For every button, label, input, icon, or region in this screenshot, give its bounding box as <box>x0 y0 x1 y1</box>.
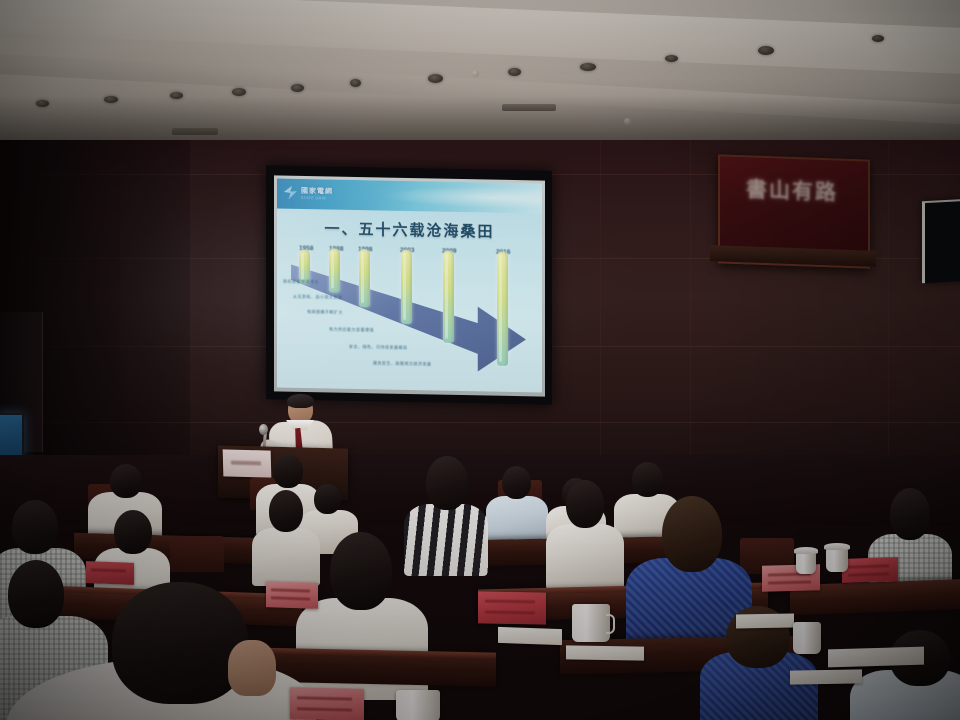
attendee <box>546 480 624 590</box>
slide-body-line: 服务民生、助推地方经济发展 <box>373 360 432 367</box>
document-sheet <box>498 627 562 645</box>
attendee-body <box>546 524 624 590</box>
downlight-icon <box>508 68 521 76</box>
attendee-head <box>426 456 468 510</box>
attendee-head <box>566 480 604 528</box>
attendee-head <box>502 466 531 499</box>
panel-grain <box>888 140 889 470</box>
panel-grain <box>690 140 691 470</box>
name-placard <box>478 591 546 624</box>
downlight-icon <box>580 63 596 71</box>
conference-hall-photo: 書山有路 國家電網 STATE GRID 一、五十六载沧海桑田 1958 198… <box>0 0 960 720</box>
attendee-head <box>269 490 303 532</box>
downlight-icon <box>350 79 361 87</box>
attendee-head <box>662 496 722 572</box>
slide-body-line: 安全、绿色、可持续发展格局 <box>349 344 408 351</box>
ceiling <box>0 0 960 150</box>
slide-body-line: 装机容量快速增长 <box>283 279 319 286</box>
slide-content: 國家電網 STATE GRID 一、五十六载沧海桑田 1958 1988 199… <box>277 178 542 392</box>
downlight-icon <box>232 88 246 96</box>
microphone-icon <box>259 424 268 435</box>
sprinkler-icon <box>472 70 479 77</box>
name-placard <box>266 581 318 609</box>
document-sheet <box>566 645 644 660</box>
side-monitor[interactable] <box>922 199 960 283</box>
tea-mug <box>796 552 816 574</box>
chair-back <box>170 536 224 572</box>
tea-mug <box>793 622 821 654</box>
downlight-icon <box>758 46 774 55</box>
downlight-icon <box>428 74 443 83</box>
tea-mug <box>572 604 610 642</box>
screen-border: 國家電網 STATE GRID 一、五十六载沧海桑田 1958 1988 199… <box>274 175 545 396</box>
downlight-icon <box>291 84 304 92</box>
attendee-head <box>273 454 303 488</box>
downlight-icon <box>665 55 678 62</box>
attendee <box>850 630 960 720</box>
presenter-hair <box>287 394 314 408</box>
attendee-head <box>12 500 58 554</box>
name-placard <box>842 557 898 583</box>
name-placard <box>86 561 134 585</box>
attendee-head <box>632 462 663 497</box>
downlight-icon <box>872 35 884 42</box>
projection-screen: 國家電網 STATE GRID 一、五十六载沧海桑田 1958 1988 199… <box>266 165 552 404</box>
attendee <box>486 464 548 546</box>
chart-bar <box>443 251 454 343</box>
mug-lid <box>794 547 818 554</box>
mug-lid <box>824 543 850 550</box>
slide-body-line: 从无到有、由小到大发展 <box>293 294 343 301</box>
chart-bar <box>359 249 370 307</box>
tea-mug <box>826 548 848 572</box>
chart-bar <box>497 252 508 366</box>
attendee-head <box>114 510 152 554</box>
foreground-attendee-hand <box>228 640 276 696</box>
document-sheet <box>736 613 794 628</box>
attendee-head <box>110 464 142 498</box>
document-sheet <box>828 647 924 668</box>
chart-bar <box>401 250 412 324</box>
plaque-calligraphy: 書山有路 <box>746 177 838 242</box>
mug-handle <box>606 614 615 634</box>
audience-area <box>0 440 960 720</box>
attendee-head <box>890 488 930 540</box>
chart-bar <box>329 248 340 292</box>
slide-body-line: 电力供应能力显著增强 <box>329 326 374 333</box>
attendee-hand <box>228 640 276 696</box>
slide-body-line: 电网规模不断扩大 <box>307 309 343 316</box>
document-sheet <box>790 669 862 684</box>
attendee-head <box>330 532 392 610</box>
name-placard <box>290 687 364 720</box>
tea-mug <box>396 690 440 720</box>
